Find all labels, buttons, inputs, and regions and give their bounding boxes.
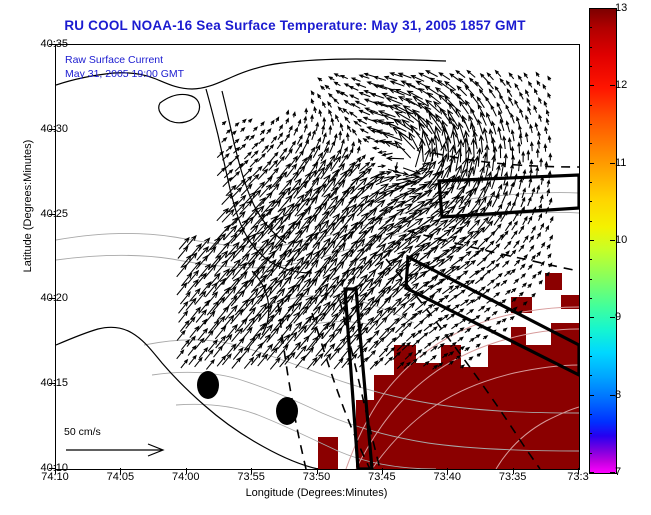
current-vector <box>471 109 478 122</box>
current-vector <box>458 261 469 270</box>
colorbar-tick-label: 12 <box>615 79 627 91</box>
current-vector <box>521 198 525 207</box>
colorbar-tick-mark <box>610 472 615 473</box>
current-vector <box>277 141 283 149</box>
current-vector <box>540 159 543 167</box>
current-vector <box>348 126 351 132</box>
current-vector <box>305 109 308 114</box>
colorbar-minor-tick <box>589 395 592 396</box>
current-vector <box>289 126 292 133</box>
current-vector <box>491 106 496 117</box>
colorbar-tick-mark <box>610 317 615 318</box>
current-vector <box>484 308 490 312</box>
current-vector <box>458 337 463 341</box>
current-vector <box>515 101 519 109</box>
current-vector <box>338 107 343 113</box>
colorbar-tick-label: 11 <box>615 157 626 169</box>
current-vector <box>448 295 457 302</box>
current-vector <box>521 274 525 279</box>
station-marker <box>197 371 219 399</box>
current-vector <box>244 152 251 159</box>
current-vector <box>540 195 543 202</box>
current-vector <box>487 261 495 268</box>
current-vector <box>485 241 494 250</box>
current-vector <box>502 261 508 267</box>
current-vector <box>450 89 460 99</box>
current-vector <box>364 139 369 143</box>
current-vector <box>303 140 309 150</box>
current-vector <box>511 231 517 239</box>
current-vector <box>541 243 544 248</box>
colorbar-minor-tick <box>589 240 592 241</box>
current-vector <box>530 125 533 133</box>
current-vector <box>544 145 547 152</box>
current-vector <box>519 245 524 251</box>
current-vector <box>504 271 510 276</box>
current-vector <box>529 82 532 87</box>
current-vector <box>501 281 507 286</box>
current-vector <box>507 81 512 88</box>
map-plot-area[interactable]: Raw Surface Current May 31, 2005 19:00 G… <box>55 44 580 470</box>
current-vector <box>519 135 522 145</box>
current-vector <box>503 137 506 149</box>
current-vector <box>298 189 312 207</box>
current-vector <box>512 222 518 231</box>
current-vector <box>249 135 254 140</box>
current-vector <box>538 132 541 140</box>
current-vector <box>395 141 411 158</box>
current-vector <box>206 360 214 370</box>
current-vector <box>345 101 352 106</box>
current-vector <box>476 344 480 347</box>
current-vector <box>451 305 459 311</box>
current-vector <box>214 346 223 357</box>
y-tick-mark <box>49 383 55 384</box>
current-vector <box>335 74 341 77</box>
current-vector <box>293 112 296 117</box>
current-vector <box>492 312 497 316</box>
current-vector <box>519 226 524 234</box>
current-vector <box>478 167 484 185</box>
annotation-line-1: Raw Surface Current <box>65 53 184 67</box>
current-vector <box>415 145 422 167</box>
current-vector <box>510 317 514 320</box>
current-vector <box>314 107 317 113</box>
colorbar-tick-label: 13 <box>615 2 627 14</box>
current-vector <box>514 260 519 266</box>
colorbar-minor-tick <box>589 317 592 318</box>
current-vector <box>526 90 529 96</box>
current-vector <box>501 163 504 177</box>
current-vector <box>328 102 332 107</box>
current-vector <box>475 335 480 338</box>
current-vector <box>511 165 514 177</box>
current-vector <box>504 242 510 250</box>
current-vector <box>280 149 287 158</box>
current-vector <box>346 134 349 141</box>
current-vector <box>188 346 196 356</box>
current-vector <box>465 86 474 95</box>
current-vector <box>505 222 511 231</box>
current-vector <box>518 76 522 82</box>
current-vector <box>519 293 523 297</box>
current-vector <box>329 94 334 99</box>
current-vector <box>180 292 190 304</box>
current-vector <box>235 123 239 126</box>
current-vector <box>231 172 240 181</box>
current-vector <box>261 122 264 126</box>
current-vector <box>385 357 392 365</box>
current-vector <box>546 119 549 125</box>
current-vector <box>492 174 497 189</box>
current-vector <box>506 105 510 114</box>
current-vector <box>226 146 232 151</box>
current-vector <box>528 265 532 270</box>
current-vector <box>451 324 458 329</box>
current-vector <box>499 145 503 159</box>
current-vector <box>373 147 379 150</box>
current-vector <box>432 337 439 343</box>
current-vector <box>329 110 332 116</box>
current-vector <box>371 94 384 99</box>
current-vector <box>415 216 434 229</box>
current-vector <box>357 147 360 153</box>
current-vector <box>509 98 513 106</box>
colorbar-minor-tick <box>589 85 592 86</box>
current-vector <box>532 275 535 279</box>
current-vector <box>420 333 428 340</box>
current-vector <box>466 310 473 315</box>
current-vector <box>500 79 505 86</box>
y-tick-mark <box>49 298 55 299</box>
current-vector <box>459 319 466 324</box>
current-vector <box>481 74 488 81</box>
figure-title: RU COOL NOAA-16 Sea Surface Temperature:… <box>0 18 590 33</box>
x-tick-mark <box>513 468 514 474</box>
current-vector <box>208 340 217 351</box>
current-vector <box>528 284 532 288</box>
current-vector <box>177 331 185 341</box>
current-vector <box>438 80 449 88</box>
colorbar-minor-tick <box>589 27 592 28</box>
current-vector <box>500 95 505 104</box>
x-tick-mark <box>317 468 318 474</box>
current-vector <box>298 120 301 126</box>
current-vector <box>520 264 525 269</box>
current-vector <box>431 346 437 351</box>
colorbar-minor-tick <box>589 8 592 9</box>
current-vector <box>537 81 540 86</box>
current-vector <box>489 90 495 99</box>
current-vector <box>458 123 464 142</box>
current-vector <box>426 71 437 77</box>
current-vector <box>241 128 245 132</box>
current-vector <box>311 115 314 122</box>
current-vector <box>520 109 523 117</box>
current-vector <box>511 114 515 123</box>
current-vector <box>349 187 365 204</box>
current-vector <box>536 167 539 175</box>
current-vector <box>280 179 292 194</box>
current-vector <box>478 287 485 293</box>
current-vector <box>325 86 330 90</box>
current-vector <box>532 227 536 234</box>
current-vector <box>526 116 529 124</box>
current-vector <box>527 99 530 106</box>
current-vector <box>536 150 539 158</box>
current-vector <box>546 110 549 116</box>
figure-canvas: RU COOL NOAA-16 Sea Surface Temperature:… <box>0 0 651 515</box>
current-vector <box>430 356 435 361</box>
current-vector <box>547 180 550 187</box>
colorbar[interactable] <box>589 8 617 474</box>
colorbar-minor-tick <box>589 472 592 473</box>
colorbar-minor-tick <box>589 66 592 67</box>
x-tick-mark <box>120 468 121 474</box>
current-vector <box>525 133 528 142</box>
current-vector <box>537 141 540 149</box>
current-vector <box>276 117 279 121</box>
current-vector <box>535 89 538 95</box>
current-vector <box>519 179 522 189</box>
current-vector <box>360 93 371 97</box>
current-vector <box>356 84 366 88</box>
surface-current-vectors <box>177 71 553 370</box>
current-vector <box>537 233 541 239</box>
current-vector <box>232 212 245 226</box>
current-vector <box>477 258 486 266</box>
current-vector <box>442 286 453 294</box>
colorbar-minor-tick <box>589 433 592 434</box>
current-vector <box>487 113 492 125</box>
current-vector <box>267 129 271 134</box>
current-vector <box>414 199 433 212</box>
current-vector <box>329 77 334 80</box>
current-vector <box>508 138 511 150</box>
current-vector <box>528 217 532 224</box>
x-axis-label: Longitude (Degrees:Minutes) <box>55 487 578 499</box>
current-vector <box>471 139 476 158</box>
current-vector <box>515 84 519 90</box>
current-vector <box>548 254 551 258</box>
current-vector <box>509 73 513 79</box>
current-vector <box>493 283 499 288</box>
current-vector <box>506 122 509 133</box>
current-vector <box>534 106 537 113</box>
current-vector <box>213 234 225 248</box>
current-vector <box>270 153 278 162</box>
x-tick-mark <box>251 468 252 474</box>
current-vector <box>528 108 531 115</box>
current-vector <box>352 104 361 109</box>
current-vector <box>507 89 512 96</box>
current-vector <box>522 283 526 287</box>
current-vector <box>487 81 493 89</box>
current-vector <box>532 294 535 298</box>
current-vector <box>331 118 334 125</box>
current-vector <box>304 117 307 123</box>
current-vector <box>271 121 274 125</box>
current-vector <box>360 75 370 78</box>
current-vector <box>530 246 534 252</box>
current-vector <box>514 279 519 284</box>
current-vector <box>487 73 493 80</box>
current-vector <box>495 87 500 95</box>
current-vector <box>483 270 491 277</box>
current-vector <box>226 130 230 134</box>
current-vector <box>395 162 398 169</box>
current-vector <box>195 358 202 367</box>
current-vector <box>374 76 386 80</box>
station-markers <box>197 371 298 425</box>
current-vector <box>384 242 401 258</box>
current-vector <box>399 73 412 78</box>
current-vector <box>498 128 502 141</box>
colorbar-minor-tick <box>589 356 592 357</box>
current-vector <box>528 197 531 206</box>
current-vector <box>352 78 361 81</box>
current-vector <box>514 241 519 248</box>
current-vector <box>537 186 540 194</box>
current-vector <box>543 85 546 90</box>
current-vector <box>393 171 408 175</box>
current-vector <box>311 91 314 95</box>
current-vector <box>253 167 262 176</box>
colorbar-minor-tick <box>589 453 592 454</box>
current-vector <box>323 102 326 107</box>
current-vector <box>518 143 521 153</box>
colorbar-tick-label: 10 <box>615 234 627 246</box>
current-vector <box>341 92 348 96</box>
current-vector <box>530 160 533 169</box>
current-vector <box>251 151 258 158</box>
current-vector <box>492 156 496 171</box>
current-vector <box>514 174 517 185</box>
y-tick-mark <box>49 214 55 215</box>
current-vector <box>496 274 502 280</box>
current-vector <box>505 310 509 313</box>
current-vector <box>341 140 344 149</box>
colorbar-minor-tick <box>589 221 592 222</box>
current-vector <box>222 122 226 125</box>
current-vector <box>529 179 532 188</box>
vector-scale-arrow <box>64 438 176 458</box>
current-vector <box>359 139 362 144</box>
colorbar-tick-mark <box>610 163 615 164</box>
colorbar-tick-mark <box>610 85 615 86</box>
current-vector <box>545 127 548 134</box>
current-vector <box>318 78 322 81</box>
current-vector <box>475 277 483 283</box>
current-vector <box>361 129 369 133</box>
current-vector <box>350 95 359 99</box>
current-vector <box>248 119 251 122</box>
current-vector <box>451 131 457 154</box>
current-vector <box>261 315 274 330</box>
current-vector <box>548 94 551 99</box>
x-tick-mark <box>382 468 383 474</box>
current-vector <box>343 109 349 115</box>
current-vector <box>478 120 483 135</box>
current-vector <box>474 316 480 320</box>
y-tick-mark <box>49 129 55 130</box>
current-vector <box>387 98 403 104</box>
current-vector <box>511 130 514 141</box>
current-vector <box>456 71 465 78</box>
current-vector <box>181 360 188 368</box>
current-vector <box>252 143 258 149</box>
current-vector <box>523 217 527 225</box>
colorbar-tick-mark <box>610 8 615 9</box>
current-vector <box>352 213 368 230</box>
current-vector <box>429 327 437 333</box>
current-vector <box>530 143 533 152</box>
current-vector <box>340 124 343 131</box>
current-vector <box>313 354 323 366</box>
current-vector <box>414 321 423 329</box>
current-vector <box>294 128 298 135</box>
current-vector <box>500 120 504 131</box>
current-vector <box>286 111 289 115</box>
y-axis-label: Latitude (Degrees:Minutes) <box>22 116 34 296</box>
colorbar-minor-tick <box>589 201 592 202</box>
colorbar-tick-mark <box>610 240 615 241</box>
current-vector <box>217 225 229 239</box>
current-vector <box>318 94 321 98</box>
current-vector <box>529 236 533 242</box>
current-vector <box>502 319 506 322</box>
current-vector <box>177 350 184 359</box>
colorbar-minor-tick <box>589 105 592 106</box>
current-vector <box>422 305 432 313</box>
current-vector <box>258 169 267 179</box>
current-vector <box>459 79 468 87</box>
current-vector <box>450 74 460 81</box>
current-vector <box>250 159 258 167</box>
current-vector <box>242 120 246 123</box>
current-vector <box>527 151 530 160</box>
current-vector <box>224 226 237 240</box>
current-vector <box>483 336 487 339</box>
current-vector <box>539 115 542 122</box>
current-vector <box>496 71 501 77</box>
current-vector <box>463 116 470 132</box>
current-vector <box>496 321 500 324</box>
current-vector <box>225 218 238 232</box>
annotation-line-2: May 31, 2005 19:00 GMT <box>65 67 184 81</box>
current-vector <box>312 184 326 202</box>
current-vector <box>270 358 280 369</box>
current-vector <box>387 156 404 160</box>
current-vector <box>548 77 551 81</box>
current-vector <box>213 298 225 312</box>
colorbar-minor-tick <box>589 143 592 144</box>
current-vector <box>341 76 348 79</box>
current-vector <box>285 134 290 141</box>
current-vector <box>550 236 553 241</box>
current-vector <box>478 238 488 248</box>
current-vector <box>501 300 506 304</box>
current-vector <box>451 257 464 267</box>
current-vector <box>330 142 335 153</box>
current-vector <box>240 144 246 150</box>
current-vector <box>356 101 366 106</box>
current-vector <box>345 117 350 123</box>
current-vector <box>214 251 227 266</box>
x-tick-mark <box>186 468 187 474</box>
colorbar-minor-tick <box>589 375 592 376</box>
current-vector <box>217 356 225 366</box>
